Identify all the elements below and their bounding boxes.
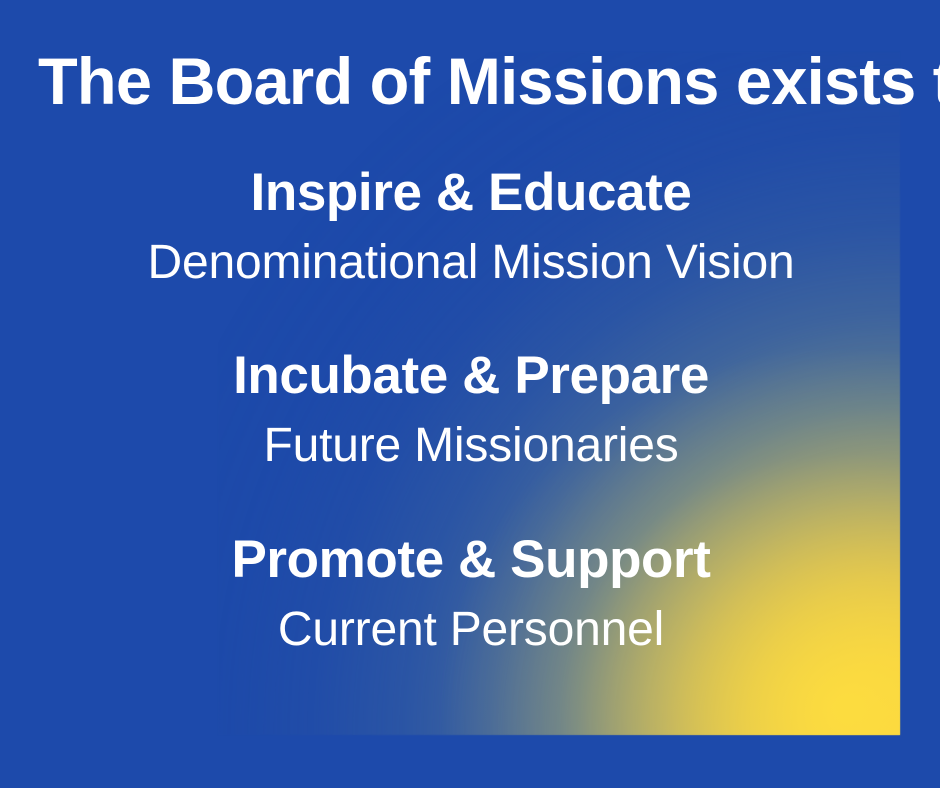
mission-section-incubate-prepare: Incubate & Prepare Future Missionaries	[0, 349, 940, 470]
poster-content: The Board of Missions exists to: Inspire…	[0, 0, 940, 788]
page-title: The Board of Missions exists to:	[38, 48, 893, 114]
section-heading-promote-support: Promote & Support	[0, 533, 940, 586]
section-subtitle-inspire-educate: Denominational Mission Vision	[0, 239, 940, 287]
mission-section-inspire-educate: Inspire & Educate Denominational Mission…	[0, 166, 940, 287]
poster-canvas: The Board of Missions exists to: Inspire…	[0, 0, 940, 788]
section-subtitle-incubate-prepare: Future Missionaries	[0, 422, 940, 470]
mission-section-promote-support: Promote & Support Current Personnel	[0, 533, 940, 654]
section-subtitle-promote-support: Current Personnel	[0, 606, 940, 654]
section-heading-incubate-prepare: Incubate & Prepare	[0, 349, 940, 402]
section-heading-inspire-educate: Inspire & Educate	[0, 166, 940, 219]
